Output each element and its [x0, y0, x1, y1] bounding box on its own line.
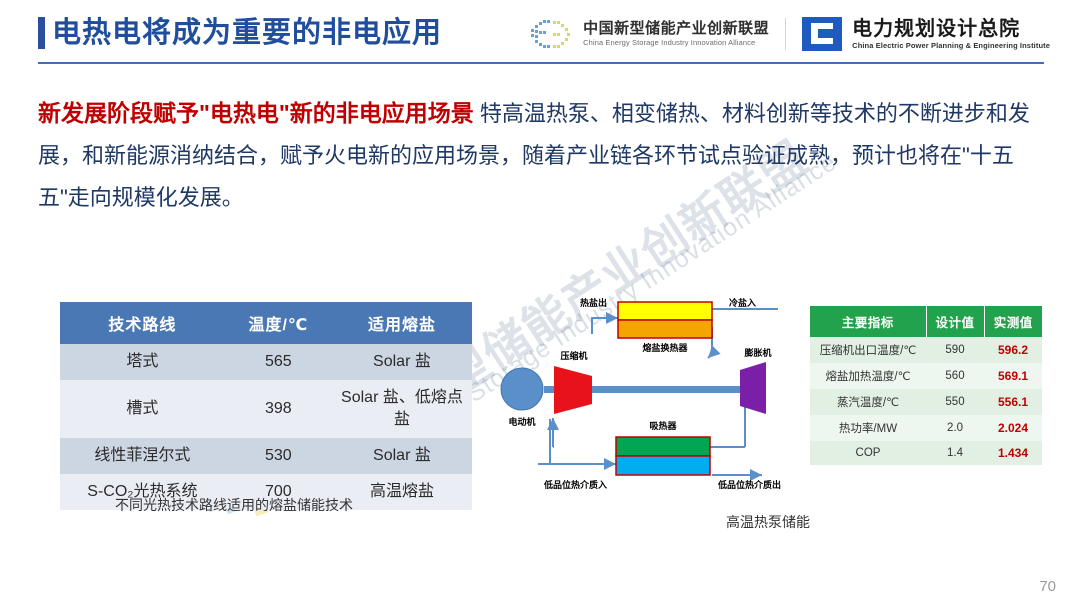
epi-name-en: China Electric Power Planning & Engineer… [852, 42, 1050, 50]
table-header-row: 主要指标 设计值 实测值 [810, 306, 1042, 337]
header-divider [38, 62, 1044, 64]
epi-logo-text: 电力规划设计总院 China Electric Power Planning &… [852, 19, 1050, 50]
table-row: 熔盐加热温度/℃ 560 569.1 [810, 363, 1042, 389]
cell-tech-route: 线性菲涅尔式 [60, 438, 225, 474]
epi-name-cn: 电力规划设计总院 [852, 19, 1050, 39]
label-absorber: 吸热器 [649, 420, 677, 431]
left-table-caption: 不同光热技术路线适用的熔盐储能技术 [115, 495, 353, 515]
cell-metric: 热功率/MW [810, 415, 926, 441]
title-accent-bar [38, 17, 45, 49]
cell-measured: 596.2 [984, 337, 1042, 363]
cell-tech-route: 槽式 [60, 380, 225, 438]
table-header-row: 技术路线 温度/℃ 适用熔盐 [60, 302, 472, 344]
motor-circle [501, 368, 543, 410]
col-measured-value: 实测值 [984, 306, 1042, 337]
paragraph-lead: 新发展阶段赋予"电热电"新的非电应用场景 [38, 100, 474, 126]
page-number: 70 [1039, 578, 1056, 595]
absorber-cyan-block [616, 456, 710, 475]
col-tech-route: 技术路线 [60, 302, 225, 344]
col-metric: 主要指标 [810, 306, 926, 337]
pipe-compressor-to-hx [592, 318, 618, 334]
label-low-grade-in: 低品位热介质入 [543, 479, 607, 490]
cell-measured: 556.1 [984, 389, 1042, 415]
cell-design: 560 [926, 363, 984, 389]
solar-thermal-table: 技术路线 温度/℃ 适用熔盐 塔式 565 Solar 盐 槽式 398 Sol… [60, 302, 472, 510]
hx-orange-block [618, 320, 712, 338]
cell-temperature: 565 [225, 344, 332, 380]
diagram-caption: 高温热泵储能 [726, 512, 810, 532]
cell-design: 550 [926, 389, 984, 415]
alliance-name-en: China Energy Storage Industry Innovation… [583, 39, 769, 47]
slide-header: 电热电将成为重要的非电应用 [0, 0, 1080, 70]
cell-metric: 压缩机出口温度/℃ [810, 337, 926, 363]
high-temp-heat-pump-diagram: 电动机 压缩机 膨胀机 熔盐换热器 热盐出 冷盐入 吸热器 低品位热介质入 低品… [482, 292, 782, 507]
table-row: 塔式 565 Solar 盐 [60, 344, 472, 380]
cell-measured: 2.024 [984, 415, 1042, 441]
label-low-grade-out: 低品位热介质出 [717, 479, 781, 490]
cell-measured: 569.1 [984, 363, 1042, 389]
cell-measured: 1.434 [984, 441, 1042, 465]
alliance-mosaic-icon [529, 17, 573, 51]
cell-molten-salt: Solar 盐 [332, 438, 472, 474]
hx-yellow-block [618, 302, 712, 320]
header-logos: 中国新型储能产业创新联盟 China Energy Storage Indust… [529, 12, 1050, 56]
page-title: 电热电将成为重要的非电应用 [52, 13, 442, 53]
col-design-value: 设计值 [926, 306, 984, 337]
cell-metric: 熔盐加热温度/℃ [810, 363, 926, 389]
cell-molten-salt: Solar 盐 [332, 344, 472, 380]
alliance-logo-text: 中国新型储能产业创新联盟 China Energy Storage Indust… [583, 21, 769, 47]
epi-emblem-icon [802, 17, 842, 51]
slide: 中国新型储能产业创新联盟 China Energy Storage Indust… [0, 0, 1080, 607]
col-molten-salt: 适用熔盐 [332, 302, 472, 344]
cell-design: 590 [926, 337, 984, 363]
table-row: 压缩机出口温度/℃ 590 596.2 [810, 337, 1042, 363]
table-row: 槽式 398 Solar 盐、低熔点盐 [60, 380, 472, 438]
label-expander: 膨胀机 [743, 347, 771, 358]
compressor-shape [554, 366, 592, 414]
alliance-name-cn: 中国新型储能产业创新联盟 [583, 21, 769, 36]
table-row: 热功率/MW 2.0 2.024 [810, 415, 1042, 441]
logo-divider [785, 18, 786, 50]
label-hot-salt-out: 热盐出 [580, 297, 607, 308]
cell-metric: COP [810, 441, 926, 465]
table-row: COP 1.4 1.434 [810, 441, 1042, 465]
label-salt-heat-exchanger: 熔盐换热器 [642, 342, 688, 353]
body-paragraph: 新发展阶段赋予"电热电"新的非电应用场景 特高温热泵、相变储热、材料创新等技术的… [38, 92, 1048, 219]
table-row: 线性菲涅尔式 530 Solar 盐 [60, 438, 472, 474]
cell-metric: 蒸汽温度/℃ [810, 389, 926, 415]
cell-molten-salt: Solar 盐、低熔点盐 [332, 380, 472, 438]
cell-tech-route: 塔式 [60, 344, 225, 380]
cell-temperature: 530 [225, 438, 332, 474]
pipe-low-grade-in-left [550, 419, 616, 464]
cell-design: 1.4 [926, 441, 984, 465]
label-cold-salt-in: 冷盐入 [729, 297, 756, 308]
cell-temperature: 398 [225, 380, 332, 438]
heat-pump-metrics-table: 主要指标 设计值 实测值 压缩机出口温度/℃ 590 596.2 熔盐加热温度/… [810, 306, 1042, 465]
table-row: 蒸汽温度/℃ 550 556.1 [810, 389, 1042, 415]
cell-design: 2.0 [926, 415, 984, 441]
label-compressor: 压缩机 [560, 350, 587, 361]
absorber-green-block [616, 437, 710, 456]
expander-shape [740, 362, 766, 414]
label-motor: 电动机 [508, 416, 535, 427]
col-temperature: 温度/℃ [225, 302, 332, 344]
